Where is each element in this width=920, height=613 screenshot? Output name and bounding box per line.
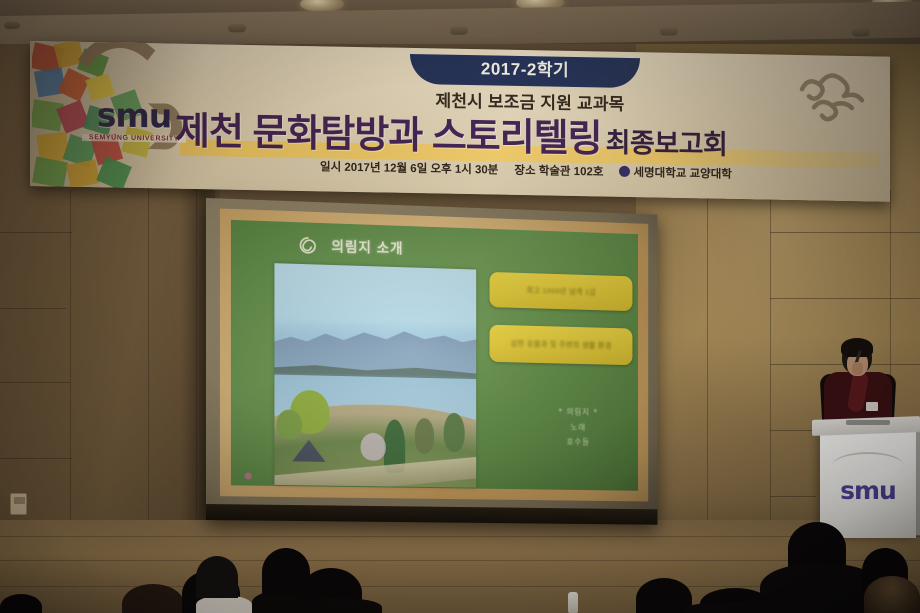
podium-smu-logo: smu [828,476,908,505]
event-banner: smu SEMYUNG UNIVERSITY 2017-2학기 제천시 보조금 … [30,41,890,202]
slide-title: 의림지 소개 [331,236,403,258]
wall-panel-seam [0,382,70,383]
cloud-swirl-ornament-icon [792,67,872,126]
floor-plank-line [0,536,920,537]
banner-title-tail: 최종보고회 [606,128,728,160]
slide-content: 의림지 소개 최고 1000년 넘게 1 [231,220,638,491]
banner-logo: smu SEMYUNG UNIVERSITY [82,98,186,143]
wall-panel-seam [0,458,72,459]
ceiling-vent-icon [4,22,20,29]
wall-panel-seam [770,232,920,233]
smu-wordmark: smu [82,98,186,133]
ceiling-vent-icon [450,27,468,35]
wall-panel-seam [0,308,66,309]
audience-fur-collar [864,576,920,613]
banner-semester-label: 2017-2학기 [410,54,640,86]
speaker-hand [852,362,863,375]
tree-shape [276,409,302,439]
lake-photo [274,263,476,487]
banner-semester-pill: 2017-2학기 [410,54,640,88]
speaker-name-badge [866,402,878,411]
banner-title-main: 제천 문화탐방과 스토리텔링 [175,111,602,161]
floor-plank-line [0,560,920,561]
presentation-slide: 의림지 소개 최고 1000년 넘게 1 [220,209,648,502]
slide-callout-text: 삼한 유물과 및 주변의 생활 환경 [511,338,612,352]
handwritten-line: 호수들 [535,434,621,450]
handwritten-line: * 의림지 * [535,404,621,420]
wall-panel-seam [0,232,72,233]
banner-footer-place: 장소 학술관 102호 [514,162,603,180]
slide-title-row: 의림지 소개 [298,235,403,258]
banner-place-value: 학술관 102호 [539,165,604,178]
projection-screen: 의림지 소개 최고 1000년 넘게 1 [206,198,657,525]
slide-callout-box: 최고 1000년 넘게 1급 [490,272,633,311]
banner-date-label: 일시 [320,161,341,173]
spiral-icon [298,235,318,255]
ceiling-vent-icon [660,27,678,35]
tree-shape [444,413,465,453]
podium-slot-detail [846,420,890,425]
org-seal-icon [619,166,630,177]
audience-head [196,556,238,598]
wall-panel-seam [707,190,708,534]
power-outlet-icon [10,493,27,515]
banner-footer-date: 일시 2017년 12월 6일 오후 1시 30분 [320,158,498,177]
banner-footer-org: 세명대학교 교양대학 [619,164,731,182]
slide-callout-text: 최고 1000년 넘게 1급 [526,285,596,298]
banner-org-name: 세명대학교 교양대학 [633,167,731,181]
tree-shape [361,433,386,461]
audience-head [0,594,42,613]
wall-panel-seam [770,190,771,534]
tree-shape [415,418,434,454]
wall-panel-seam [770,496,816,497]
banner-date-value: 2017년 12월 6일 오후 1시 30분 [344,162,498,177]
wall-panel-seam [770,298,920,299]
wall-panel-seam [196,186,197,530]
audience-shirt [196,596,252,613]
wall-panel-seam [70,190,71,530]
water-bottle [568,592,578,613]
wall-panel-seam [148,186,149,530]
audience-shoulders [286,598,382,613]
lecture-hall-photo: smu SEMYUNG UNIVERSITY 2017-2학기 제천시 보조금 … [0,0,920,613]
slide-handwritten-note: * 의림지 * 노래 호수들 [535,404,621,450]
banner-place-label: 장소 [514,165,535,177]
ceiling-vent-icon [228,24,246,32]
pink-dot-mark-icon [245,473,252,480]
slide-callout-box: 삼한 유물과 및 주변의 생활 환경 [490,325,633,366]
ceiling-vent-icon [852,28,870,36]
handwritten-line: 노래 [535,419,621,435]
